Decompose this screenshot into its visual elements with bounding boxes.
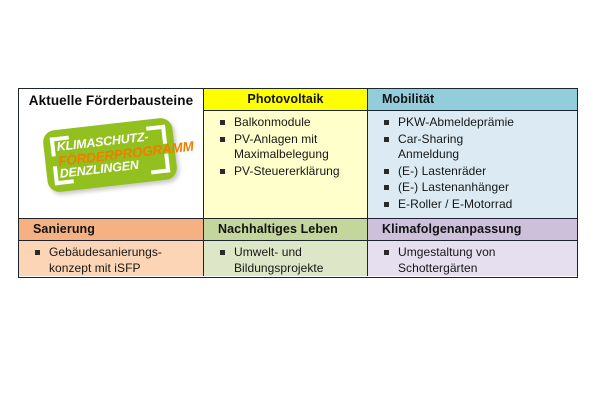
list-item-label-cont: Maximalbelegung — [234, 147, 329, 161]
list-item-label-cont: Schottergärten — [398, 261, 477, 275]
list-item: Balkonmodule — [212, 115, 363, 131]
list-item: Gebäudesanierungs- konzept mit iSFP — [27, 245, 199, 276]
bullet-square-icon — [384, 250, 389, 255]
list-item-label: Umgestaltung von — [398, 245, 496, 259]
bullet-square-icon — [220, 120, 225, 125]
list-item: E-Roller / E-Motorrad — [376, 197, 573, 213]
list-nachhaltiges-leben: Umwelt- und Bildungsprojekte — [212, 245, 363, 276]
list-item-label: (E-) Lastenanhänger — [398, 180, 509, 194]
list-item-label: Car-Sharing — [398, 132, 463, 146]
bullet-square-icon — [220, 137, 225, 142]
column-body-sanierung: Gebäudesanierungs- konzept mit iSFP — [19, 241, 203, 276]
list-item: (E-) Lastenanhänger — [376, 180, 573, 196]
bullet-square-icon — [35, 250, 40, 255]
bullet-square-icon — [220, 250, 225, 255]
list-item: Umgestaltung von Schottergärten — [376, 245, 573, 276]
bullet-square-icon — [384, 185, 389, 190]
foerderbausteine-table: Aktuelle Förderbausteine KLIMASCHUTZ- FÖ… — [18, 88, 578, 278]
bullet-square-icon — [384, 169, 389, 174]
column-header-klimafolgenanpassung: Klimafolgenanpassung — [368, 219, 577, 241]
logo-badge: KLIMASCHUTZ- FÖRDERPROGRAMM DENZLINGEN — [42, 117, 178, 193]
bullet-square-icon — [384, 202, 389, 207]
column-body-nachhaltiges-leben: Umwelt- und Bildungsprojekte — [204, 241, 367, 276]
column-header-nachhaltiges-leben: Nachhaltiges Leben — [204, 219, 367, 241]
list-item-label-cont: konzept mit iSFP — [49, 261, 141, 275]
list-item: PV-Steuererklärung — [212, 164, 363, 180]
table-cell-title: Aktuelle Förderbausteine KLIMASCHUTZ- FÖ… — [19, 89, 203, 218]
column-body-mobilitaet: PKW-Abmeldeprämie Car-Sharing Anmeldung … — [368, 111, 577, 218]
list-item-label: PV-Anlagen mit — [234, 132, 317, 146]
list-item: PKW-Abmeldeprämie — [376, 115, 573, 131]
list-item-label-cont: Anmeldung — [398, 147, 459, 161]
column-body-photovoltaik: Balkonmodule PV-Anlagen mit Maximalbeleg… — [204, 111, 367, 218]
list-item-label: E-Roller / E-Motorrad — [398, 197, 512, 211]
list-item: Car-Sharing Anmeldung — [376, 132, 573, 163]
table-row-bottom: Sanierung Gebäudesanierungs- konzept mit… — [19, 218, 577, 276]
bullet-square-icon — [220, 169, 225, 174]
bullet-square-icon — [384, 120, 389, 125]
list-item: (E-) Lastenräder — [376, 164, 573, 180]
list-item-label: Balkonmodule — [234, 115, 311, 129]
column-header-mobilitaet: Mobilität — [368, 89, 577, 111]
table-cell-klimafolgenanpassung: Klimafolgenanpassung Umgestaltung von Sc… — [367, 219, 577, 276]
logo-area: KLIMASCHUTZ- FÖRDERPROGRAMM DENZLINGEN — [31, 112, 191, 198]
table-cell-photovoltaik: Photovoltaik Balkonmodule PV-Anlagen mit… — [203, 89, 367, 218]
table-cell-nachhaltiges-leben: Nachhaltiges Leben Umwelt- und Bildungsp… — [203, 219, 367, 276]
list-item-label: Gebäudesanierungs- — [49, 245, 162, 259]
list-item-label: (E-) Lastenräder — [398, 164, 486, 178]
title-cell-content: Aktuelle Förderbausteine KLIMASCHUTZ- FÖ… — [19, 89, 203, 218]
list-item-label: PKW-Abmeldeprämie — [398, 115, 514, 129]
table-cell-mobilitaet: Mobilität PKW-Abmeldeprämie Car-Sharing … — [367, 89, 577, 218]
screenshot-canvas: Aktuelle Förderbausteine KLIMASCHUTZ- FÖ… — [0, 0, 600, 400]
list-item: Umwelt- und Bildungsprojekte — [212, 245, 363, 276]
list-mobilitaet: PKW-Abmeldeprämie Car-Sharing Anmeldung … — [376, 115, 573, 212]
table-row-top: Aktuelle Förderbausteine KLIMASCHUTZ- FÖ… — [19, 89, 577, 218]
column-header-sanierung: Sanierung — [19, 219, 203, 241]
bullet-square-icon — [384, 137, 389, 142]
list-item-label-cont: Bildungsprojekte — [234, 261, 324, 275]
list-item: PV-Anlagen mit Maximalbelegung — [212, 132, 363, 163]
list-photovoltaik: Balkonmodule PV-Anlagen mit Maximalbeleg… — [212, 115, 363, 179]
list-item-label: Umwelt- und — [234, 245, 302, 259]
table-cell-sanierung: Sanierung Gebäudesanierungs- konzept mit… — [19, 219, 203, 276]
list-item-label: PV-Steuererklärung — [234, 164, 340, 178]
list-klimafolgenanpassung: Umgestaltung von Schottergärten — [376, 245, 573, 276]
page-title: Aktuelle Förderbausteine — [29, 93, 193, 108]
column-header-photovoltaik: Photovoltaik — [204, 89, 367, 111]
list-sanierung: Gebäudesanierungs- konzept mit iSFP — [27, 245, 199, 276]
column-body-klimafolgenanpassung: Umgestaltung von Schottergärten — [368, 241, 577, 276]
